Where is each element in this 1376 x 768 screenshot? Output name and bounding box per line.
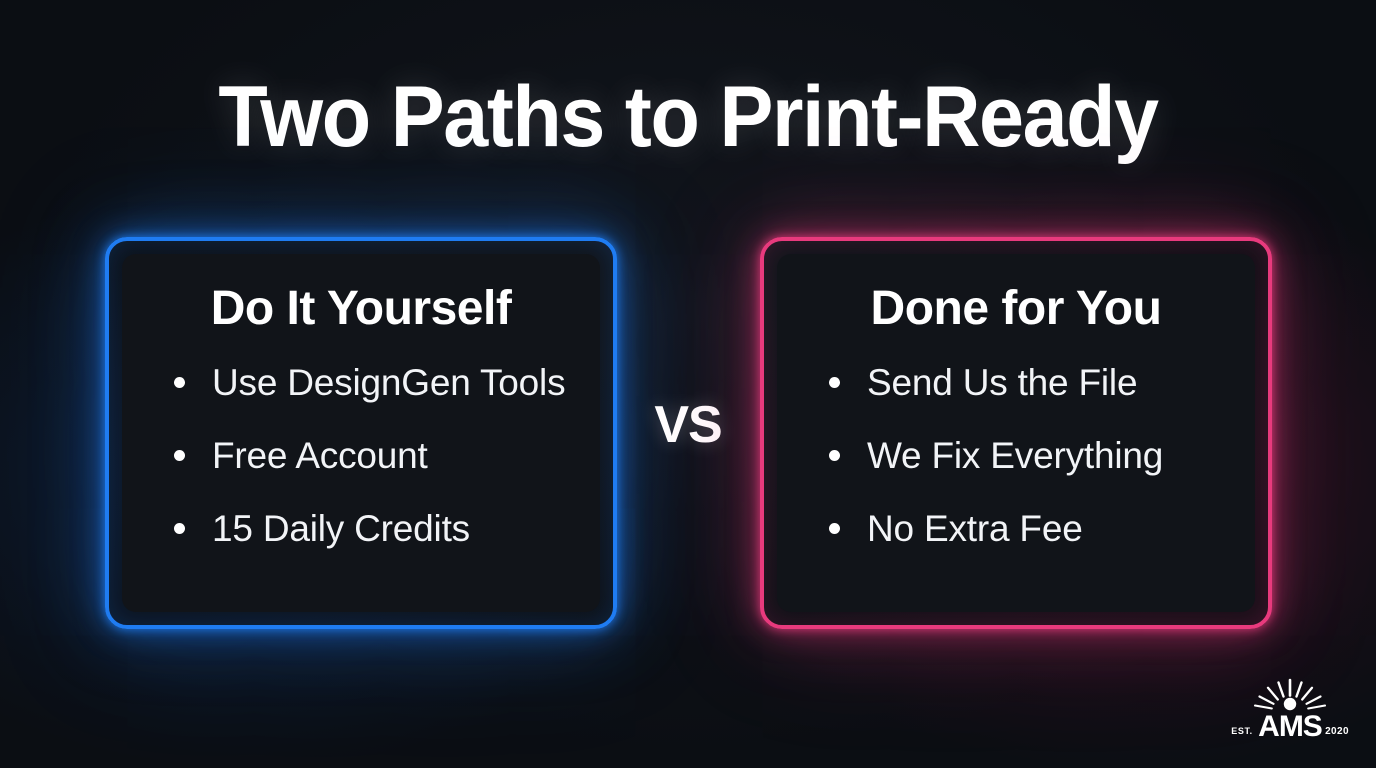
sunburst-icon <box>1255 680 1325 710</box>
bullet-dot-icon <box>829 377 840 388</box>
list-item: 15 Daily Credits <box>174 510 572 547</box>
card-inner-panel: Done for You Send Us the File We Fix Eve… <box>777 254 1255 612</box>
list-item: Use DesignGen Tools <box>174 364 572 401</box>
logo-wordmark: AMS <box>1258 710 1322 743</box>
list-item-label: Use DesignGen Tools <box>212 362 565 403</box>
card-heading-done-for-you: Done for You <box>805 284 1227 334</box>
page-title: Two Paths to Print-Ready <box>41 74 1334 160</box>
list-item: We Fix Everything <box>829 437 1227 474</box>
bullet-dot-icon <box>174 523 185 534</box>
logo-established-label: EST. <box>1231 726 1252 736</box>
card-do-it-yourself[interactable]: Do It Yourself Use DesignGen Tools Free … <box>105 237 617 629</box>
card-heading-do-it-yourself: Do It Yourself <box>150 284 572 334</box>
card-inner-panel: Do It Yourself Use DesignGen Tools Free … <box>122 254 600 612</box>
versus-divider: VS <box>623 395 753 455</box>
list-item: Free Account <box>174 437 572 474</box>
bullet-list-done-for-you: Send Us the File We Fix Everything No Ex… <box>805 364 1227 547</box>
brand-logo: AMS EST. 2020 <box>1226 670 1354 750</box>
list-item: Send Us the File <box>829 364 1227 401</box>
list-item: No Extra Fee <box>829 510 1227 547</box>
bullet-dot-icon <box>174 377 185 388</box>
list-item-label: No Extra Fee <box>867 508 1083 549</box>
list-item-label: Send Us the File <box>867 362 1137 403</box>
logo-established-year: 2020 <box>1325 726 1349 737</box>
slide-canvas: Two Paths to Print-Ready Do It Yourself … <box>0 0 1376 768</box>
list-item-label: Free Account <box>212 435 428 476</box>
bullet-dot-icon <box>829 523 840 534</box>
bullet-dot-icon <box>829 450 840 461</box>
list-item-label: We Fix Everything <box>867 435 1163 476</box>
bullet-list-do-it-yourself: Use DesignGen Tools Free Account 15 Dail… <box>150 364 572 547</box>
card-done-for-you[interactable]: Done for You Send Us the File We Fix Eve… <box>760 237 1272 629</box>
list-item-label: 15 Daily Credits <box>212 508 470 549</box>
bullet-dot-icon <box>174 450 185 461</box>
